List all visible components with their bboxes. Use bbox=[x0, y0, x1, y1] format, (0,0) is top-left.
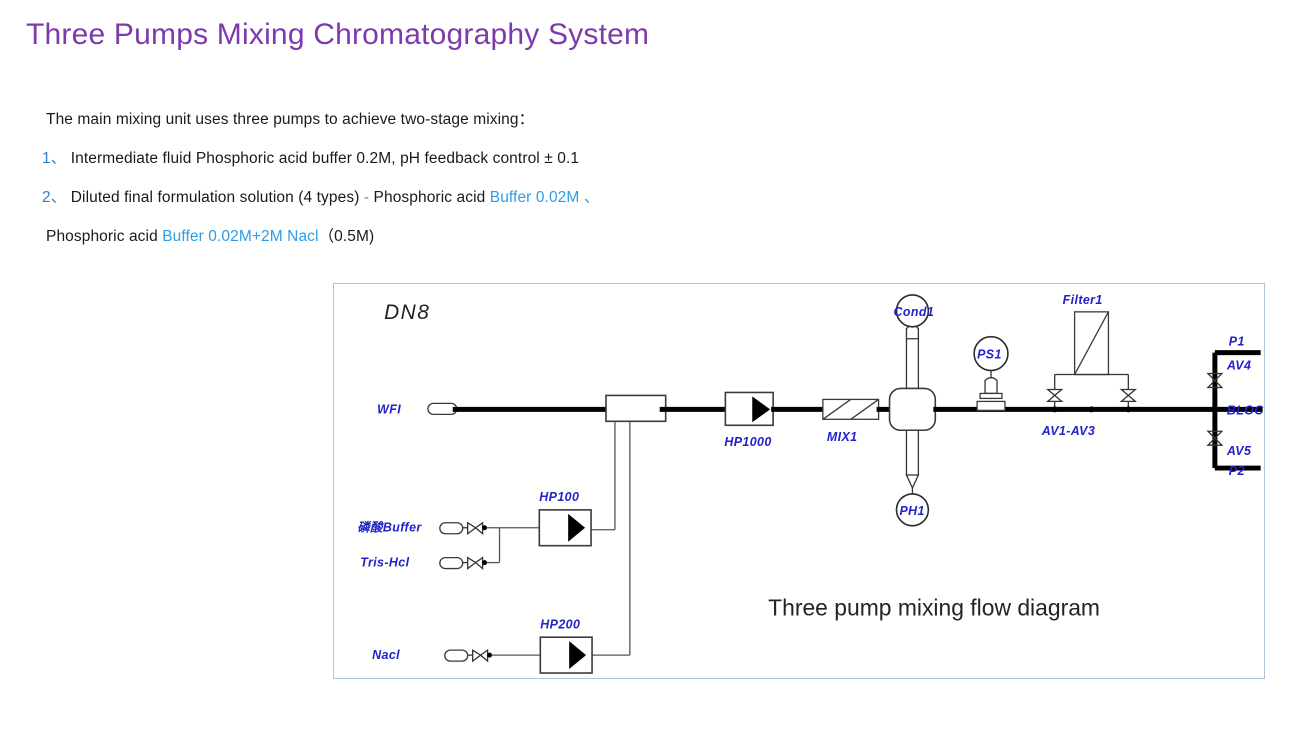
nacl-check-valve-tri2 bbox=[481, 650, 488, 661]
av3-tap-node bbox=[1125, 406, 1131, 412]
continuation-text-after: （0.5M) bbox=[319, 228, 375, 245]
continuation-text-before: Phosphoric acid bbox=[46, 228, 162, 245]
av4-label: AV4 bbox=[1226, 359, 1251, 373]
av2-tap-node bbox=[1089, 406, 1095, 412]
nacl-valve-node bbox=[487, 653, 492, 658]
av1-tap-node bbox=[1052, 406, 1058, 412]
page-title: Three Pumps Mixing Chromatography System bbox=[26, 18, 649, 52]
hp200-label: HP200 bbox=[540, 617, 580, 631]
dn8-size-label: DN8 bbox=[384, 301, 430, 324]
av5-label: AV5 bbox=[1226, 444, 1252, 458]
bullet-2-number: 2、 bbox=[42, 189, 66, 206]
bullet-item-2: 2、 Diluted final formulation solution (4… bbox=[42, 185, 599, 207]
tee-junction-box bbox=[606, 395, 666, 421]
cond1-label: Cond1 bbox=[894, 305, 935, 319]
diagram-caption: Three pump mixing flow diagram bbox=[768, 594, 1100, 620]
buffer-check-valve-tri2 bbox=[476, 523, 483, 534]
flow-diagram-frame: DN8 WFI HP1000 MIX1 Cond1 PH1 PS1 Filter… bbox=[333, 283, 1265, 679]
tris-valve-node bbox=[482, 560, 487, 565]
buffer-inlet-connector bbox=[440, 523, 463, 534]
tris-check-valve-tri2 bbox=[476, 558, 483, 569]
tris-hcl-label: Tris-Hcl bbox=[360, 556, 409, 570]
wfi-label: WFI bbox=[377, 402, 401, 416]
av1-av3-label: AV1-AV3 bbox=[1041, 424, 1095, 438]
filter1-valve-right bbox=[1121, 389, 1135, 401]
filter1-label: Filter1 bbox=[1063, 293, 1103, 307]
bullet-item-1: 1、 Intermediate fluid Phosphoric acid bu… bbox=[42, 146, 579, 168]
hp1000-label: HP1000 bbox=[724, 435, 771, 449]
p2-label: P2 bbox=[1229, 464, 1245, 478]
nacl-label: Nacl bbox=[372, 648, 400, 662]
wfi-inlet-cap bbox=[428, 403, 457, 414]
mix1-static-mixer bbox=[823, 399, 879, 419]
ps1-base-flange bbox=[977, 401, 1005, 410]
mix1-label: MIX1 bbox=[827, 430, 858, 444]
ps1-label: PS1 bbox=[977, 348, 1002, 362]
hp100-label: HP100 bbox=[539, 490, 579, 504]
bullet-2-text-after: 、 bbox=[579, 189, 599, 206]
p1-label: P1 bbox=[1229, 335, 1245, 349]
bullet-2-separator: - bbox=[364, 189, 374, 206]
bullet-2-text-before: Diluted final formulation solution (4 ty… bbox=[71, 189, 364, 206]
filter1-valve-left bbox=[1048, 389, 1062, 401]
block-label: BLOCK bbox=[1227, 403, 1264, 417]
bullet-2-highlight: Buffer 0.02M bbox=[490, 189, 580, 206]
ps1-body bbox=[985, 378, 997, 394]
ph1-probe-tip bbox=[906, 475, 918, 488]
continuation-highlight: Buffer 0.02M+2M Nacl bbox=[162, 228, 318, 245]
nacl-inlet-connector bbox=[445, 650, 468, 661]
bullet-2-text-mid: Phosphoric acid bbox=[374, 189, 490, 206]
ph1-label: PH1 bbox=[899, 504, 924, 518]
intro-text: The main mixing unit uses three pumps to… bbox=[46, 107, 534, 129]
buffer-inlet-label: 磷酸Buffer bbox=[357, 521, 422, 535]
tris-check-valve-tri bbox=[468, 558, 476, 569]
buffer-valve-node bbox=[482, 525, 487, 530]
continuation-line: Phosphoric acid Buffer 0.02M+2M Nacl（0.5… bbox=[46, 224, 374, 246]
central-junction-box bbox=[890, 388, 936, 430]
tris-hcl-connector bbox=[440, 558, 463, 569]
bullet-1-text: Intermediate fluid Phosphoric acid buffe… bbox=[71, 150, 579, 167]
bullet-1-number: 1、 bbox=[42, 150, 66, 167]
ps1-flange-upper bbox=[980, 393, 1002, 398]
buffer-check-valve-tri bbox=[468, 523, 476, 534]
nacl-check-valve-tri bbox=[473, 650, 481, 661]
